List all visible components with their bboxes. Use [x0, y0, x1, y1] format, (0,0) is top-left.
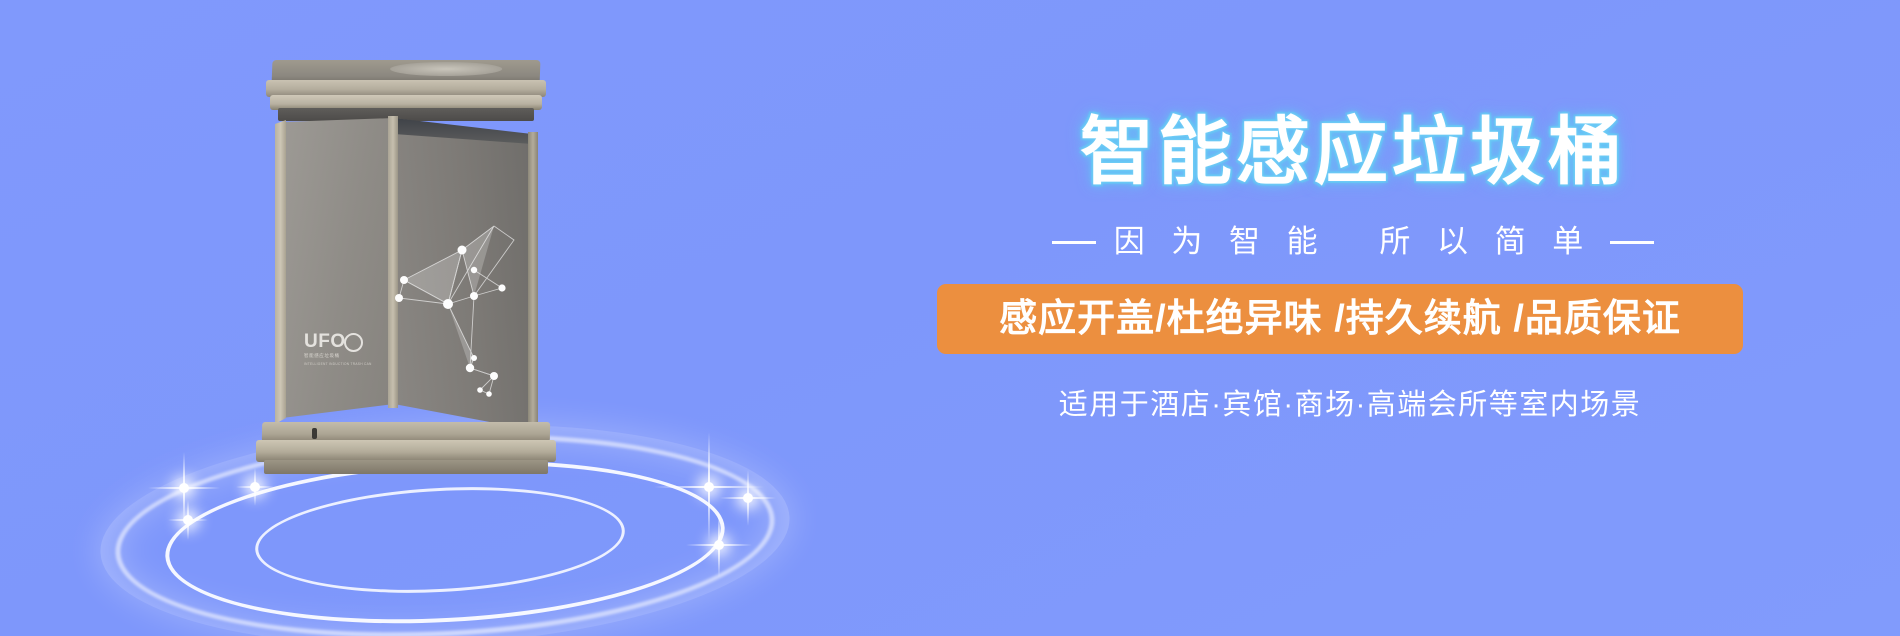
sensor-indicator-icon — [312, 428, 317, 439]
headline: 智能感应垃圾桶 — [860, 110, 1820, 194]
copy-block: 智能感应垃圾桶 因 为 智 能 所 以 简 单 感应开盖/杜绝异味 /持久续航 … — [860, 110, 1820, 424]
trash-can: UFO 智能感应垃圾桶 INTELLIGENT INDUCTION TRASH … — [238, 60, 568, 480]
trash-can-body: UFO 智能感应垃圾桶 INTELLIGENT INDUCTION TRASH … — [282, 118, 532, 428]
trash-can-base-upper — [262, 422, 550, 442]
promo-banner: UFO 智能感应垃圾桶 INTELLIGENT INDUCTION TRASH … — [0, 0, 1900, 636]
trash-can-base-lower — [264, 460, 548, 474]
brand-logo: UFO 智能感应垃圾桶 INTELLIGENT INDUCTION TRASH … — [304, 332, 376, 376]
brand-logo-ring-icon — [344, 333, 363, 352]
brand-logo-text: UFO — [304, 332, 376, 351]
feature-highlight-bar: 感应开盖/杜绝异味 /持久续航 /品质保证 — [937, 284, 1743, 354]
brand-logo-subtitle: 智能感应垃圾桶 — [304, 353, 376, 359]
subheadline-rule-right — [1610, 241, 1654, 244]
subheadline-rule-left — [1052, 241, 1096, 244]
subheadline-text: 因 为 智 能 所 以 简 单 — [1114, 222, 1593, 262]
product-image: UFO 智能感应垃圾桶 INTELLIGENT INDUCTION TRASH … — [60, 20, 820, 616]
trash-can-base-middle — [256, 440, 556, 462]
usage-scenario-text: 适用于酒店·宾馆·商场·高端会所等室内场景 — [860, 386, 1820, 424]
feature-highlight-text: 感应开盖/杜绝异味 /持久续航 /品质保证 — [999, 297, 1681, 341]
subheadline: 因 为 智 能 所 以 简 单 — [860, 222, 1820, 262]
brand-logo-subtitle-en: INTELLIGENT INDUCTION TRASH CAN — [304, 362, 376, 366]
trash-can-opening — [390, 62, 502, 76]
network-graphic-icon — [394, 208, 532, 408]
trash-can-edge-left — [275, 120, 286, 424]
